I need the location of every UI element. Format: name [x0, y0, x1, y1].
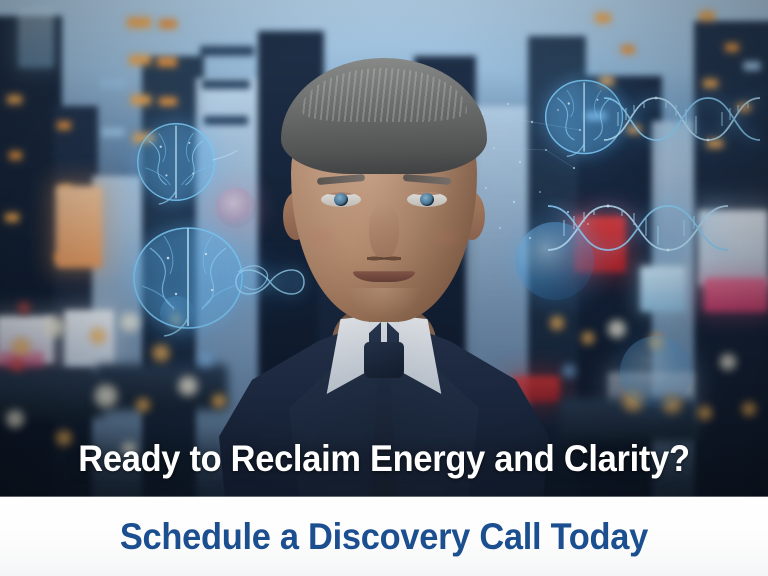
- chin: [346, 288, 422, 318]
- cell-orb-right: [620, 336, 692, 408]
- billboard-orange-left: [56, 186, 102, 268]
- nose: [369, 204, 399, 260]
- cta-bar[interactable]: Schedule a Discovery Call Today: [0, 497, 768, 576]
- brain-hologram-upper-left: [128, 118, 224, 206]
- eye-left: [321, 192, 361, 207]
- promo-banner: Ready to Reclaim Energy and Clarity? Sch…: [0, 0, 768, 576]
- billboard-pink-right: [704, 278, 768, 312]
- headline-text: Ready to Reclaim Energy and Clarity?: [27, 434, 741, 484]
- cta-text[interactable]: Schedule a Discovery Call Today: [120, 516, 648, 558]
- billboard-cyan-topleft: [18, 8, 54, 68]
- head: [291, 74, 477, 322]
- cheek-left: [301, 224, 341, 250]
- eye-right: [407, 192, 447, 207]
- tie-knot: [364, 342, 404, 378]
- nostrils: [367, 254, 401, 263]
- cheek-right: [427, 224, 467, 250]
- dna-helix-upper-right: [604, 82, 768, 162]
